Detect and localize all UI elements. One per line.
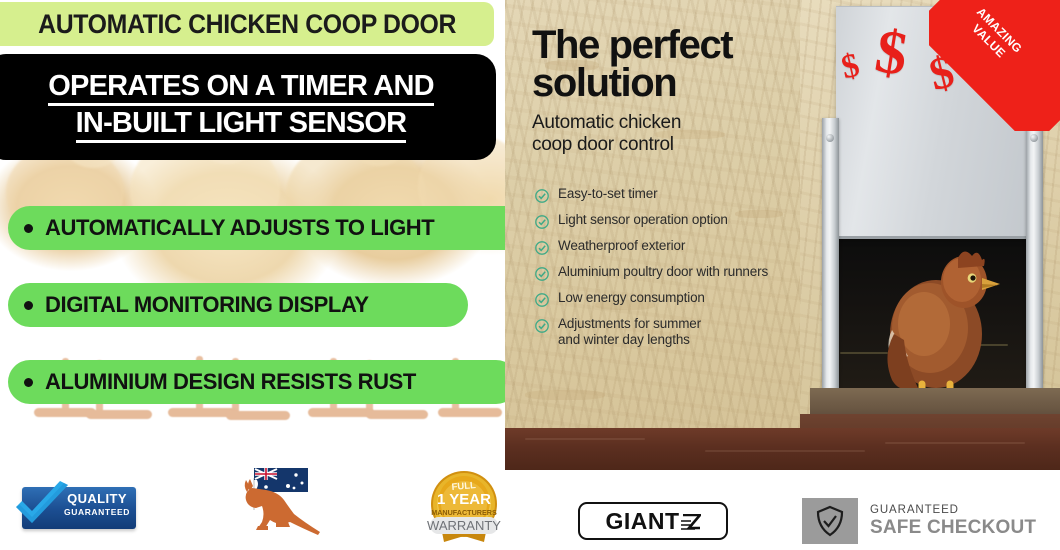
subtitle-box: OPERATES ON A TIMER AND IN-BUILT LIGHT S… xyxy=(0,54,496,160)
door-runner-left xyxy=(822,118,839,404)
feature-pill-1: AUTOMATICALLY ADJUSTS TO LIGHT xyxy=(8,206,505,250)
feature-item-text: Aluminium poultry door with runners xyxy=(558,264,768,280)
feature-item-text: Low energy consumption xyxy=(558,290,705,306)
feature-pill-2-text: DIGITAL MONITORING DISPLAY xyxy=(45,292,369,318)
feature-item: Adjustments for summer and winter day le… xyxy=(535,316,825,349)
brand-name-text: GIANT xyxy=(605,510,679,533)
safe-checkout-labels: GUARANTEED SAFE CHECKOUT xyxy=(858,498,1036,544)
feature-item: Weatherproof exterior xyxy=(535,238,825,255)
feature-item: Aluminium poultry door with runners xyxy=(535,264,825,281)
check-circle-icon xyxy=(535,267,549,281)
feature-item-text: Easy-to-set timer xyxy=(558,186,657,202)
bullet-dot-icon xyxy=(24,301,33,310)
feature-pill-3: ALUMINIUM DESIGN RESISTS RUST xyxy=(8,360,505,404)
quality-guaranteed-badge: QUALITY GUARANTEED xyxy=(10,481,138,533)
check-circle-icon xyxy=(535,189,549,203)
safe-checkout-badge: GUARANTEED SAFE CHECKOUT xyxy=(802,498,1046,544)
photo-fade xyxy=(0,420,505,460)
svg-text:1 YEAR: 1 YEAR xyxy=(437,491,491,508)
headline-line-2: solution xyxy=(532,64,832,102)
check-circle-icon xyxy=(535,319,549,333)
wood-floor-band xyxy=(505,428,1060,470)
feature-item-text: Adjustments for summer and winter day le… xyxy=(558,316,701,349)
feature-pill-1-text: AUTOMATICALLY ADJUSTS TO LIGHT xyxy=(45,215,434,241)
chick-foot xyxy=(226,411,290,420)
door-top-bracket xyxy=(1002,0,1046,20)
svg-text:MANUFACTURERS: MANUFACTURERS xyxy=(431,508,497,517)
shield-icon-container xyxy=(802,498,858,544)
floor-grain xyxy=(885,442,1025,444)
check-circle-icon xyxy=(535,215,549,229)
screw-icon xyxy=(1013,3,1021,11)
checkout-line-1: GUARANTEED xyxy=(870,503,1036,517)
headline-line-1: The perfect xyxy=(532,26,832,64)
headline-block: The perfect solution Automatic chicken c… xyxy=(532,26,832,156)
check-circle-icon xyxy=(535,293,549,307)
australian-made-kangaroo-icon xyxy=(232,466,328,538)
giantz-brand-logo: GIANT xyxy=(578,502,728,540)
feature-item: Light sensor operation option xyxy=(535,212,825,229)
subhead-line-2: coop door control xyxy=(532,134,832,156)
svg-text:WARRANTY: WARRANTY xyxy=(427,518,501,533)
checkout-line-2: SAFE CHECKOUT xyxy=(870,518,1036,539)
subhead-line-1: Automatic chicken xyxy=(532,112,832,134)
wood-chip xyxy=(525,390,605,400)
product-door-photo xyxy=(800,0,1060,470)
screw-icon xyxy=(826,134,834,142)
feature-item-text: Light sensor operation option xyxy=(558,212,728,228)
title-banner-text: AUTOMATIC CHICKEN COOP DOOR xyxy=(38,9,456,40)
title-banner: AUTOMATIC CHICKEN COOP DOOR xyxy=(0,2,494,46)
subtitle-line-2: IN-BUILT LIGHT SENSOR xyxy=(76,108,407,143)
floor-grain xyxy=(525,438,645,440)
door-runner-right xyxy=(1026,118,1043,404)
promo-banner: AUTOMATIC CHICKEN COOP DOOR OPERATES ON … xyxy=(0,0,1060,550)
chick-foot xyxy=(366,410,428,419)
check-circle-icon xyxy=(535,241,549,255)
aluminium-door-panel xyxy=(836,6,1028,239)
quality-badge-text: QUALITY GUARANTEED xyxy=(62,492,132,517)
chick-foot xyxy=(86,410,152,419)
feature-checklist: Easy-to-set timer Light sensor operation… xyxy=(535,186,825,358)
chick-foot xyxy=(438,408,502,417)
bullet-dot-icon xyxy=(24,378,33,387)
chick-foot xyxy=(308,408,374,417)
shield-check-icon xyxy=(816,505,844,537)
feature-pill-3-text: ALUMINIUM DESIGN RESISTS RUST xyxy=(45,369,416,395)
feature-item: Low energy consumption xyxy=(535,290,825,307)
quality-label-line-1: QUALITY xyxy=(62,492,132,505)
warranty-seal-badge: FULL 1 YEAR MANUFACTURERS WARRANTY xyxy=(418,470,510,546)
giantz-z-icon xyxy=(681,514,701,532)
floor-grain xyxy=(705,450,865,452)
bullet-dot-icon xyxy=(24,224,33,233)
quality-label-line-2: GUARANTEED xyxy=(62,508,132,517)
screw-icon xyxy=(1030,134,1038,142)
subtitle-line-1: OPERATES ON A TIMER AND xyxy=(48,71,433,106)
product-showcase-panel: The perfect solution Automatic chicken c… xyxy=(505,0,1060,470)
feature-item: Easy-to-set timer xyxy=(535,186,825,203)
feature-item-text: Weatherproof exterior xyxy=(558,238,685,254)
feature-pill-2: DIGITAL MONITORING DISPLAY xyxy=(8,283,468,327)
